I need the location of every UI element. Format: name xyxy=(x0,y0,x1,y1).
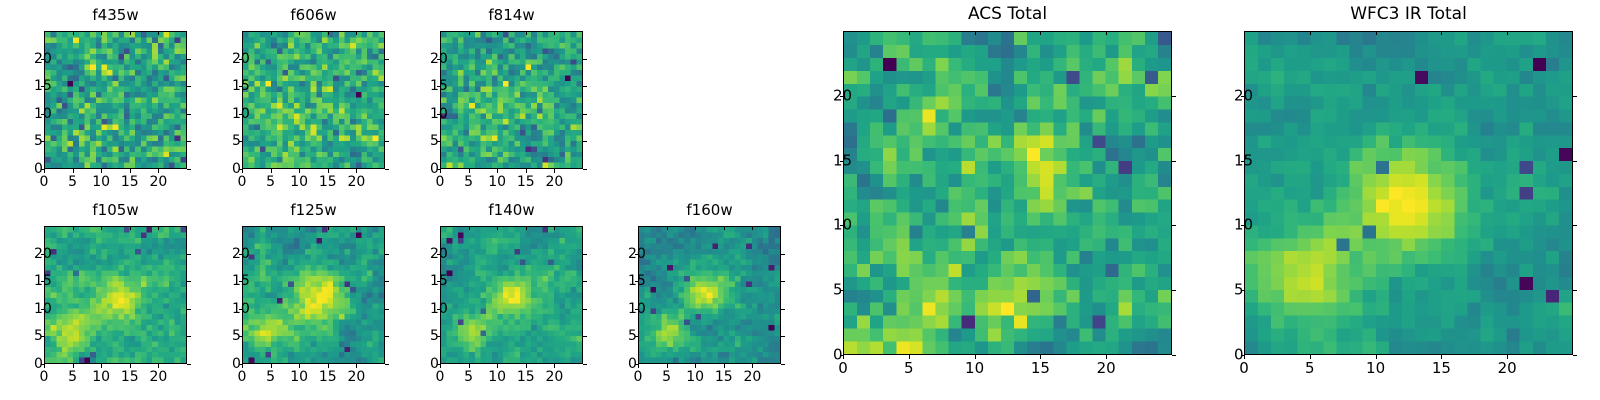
x-tick-label: 0 xyxy=(436,175,445,189)
x-tick-label: 0 xyxy=(40,175,49,189)
x-tick xyxy=(667,364,668,368)
y-tick xyxy=(583,364,587,365)
x-tick xyxy=(356,226,357,230)
x-tick xyxy=(1376,31,1377,35)
y-tick xyxy=(583,336,587,337)
y-tick xyxy=(1573,290,1577,291)
y-tick xyxy=(385,281,389,282)
x-tick xyxy=(440,169,441,173)
x-tick xyxy=(1441,355,1442,359)
x-tick-label: 15 xyxy=(121,370,139,384)
x-tick-label: 20 xyxy=(1498,361,1517,376)
x-tick xyxy=(526,364,527,368)
panel-title-f105w: f105w xyxy=(44,203,187,218)
x-tick xyxy=(1310,355,1311,359)
heatmap-image xyxy=(1245,32,1572,354)
y-tick xyxy=(781,254,785,255)
y-tick xyxy=(385,59,389,60)
x-tick-label: 20 xyxy=(149,175,167,189)
axes-acs-total xyxy=(843,31,1172,355)
y-tick xyxy=(583,169,587,170)
x-tick-label: 0 xyxy=(238,370,247,384)
y-tick xyxy=(385,141,389,142)
x-tick xyxy=(158,169,159,173)
x-tick xyxy=(130,226,131,230)
x-tick xyxy=(101,169,102,173)
x-tick-label: 15 xyxy=(1031,361,1050,376)
y-tick xyxy=(385,309,389,310)
x-tick xyxy=(469,31,470,35)
heatmap-image xyxy=(243,32,384,168)
y-tick xyxy=(583,86,587,87)
x-tick xyxy=(724,364,725,368)
y-tick xyxy=(187,309,191,310)
x-tick xyxy=(271,226,272,230)
y-tick xyxy=(187,169,191,170)
x-tick xyxy=(440,226,441,230)
x-tick xyxy=(158,226,159,230)
x-tick-label: 10 xyxy=(488,370,506,384)
x-tick-label: 15 xyxy=(517,370,535,384)
heatmap-image xyxy=(243,227,384,363)
x-tick xyxy=(242,169,243,173)
x-tick xyxy=(695,226,696,230)
x-tick xyxy=(497,169,498,173)
x-tick xyxy=(271,31,272,35)
x-tick-label: 20 xyxy=(1097,361,1116,376)
x-tick-label: 0 xyxy=(436,370,445,384)
panel-f125w: f125w0510152005101520 xyxy=(242,226,385,364)
x-tick xyxy=(101,364,102,368)
x-tick xyxy=(909,355,910,359)
x-tick-label: 20 xyxy=(149,370,167,384)
multi-band-cutout-figure: f435w0510152005101520f606w05101520051015… xyxy=(0,0,1600,400)
x-tick xyxy=(130,169,131,173)
x-tick-label: 5 xyxy=(68,175,77,189)
x-tick xyxy=(242,226,243,230)
x-tick xyxy=(73,364,74,368)
axes-f160w xyxy=(638,226,781,364)
y-tick xyxy=(1573,225,1577,226)
x-tick xyxy=(469,364,470,368)
x-tick xyxy=(101,226,102,230)
heatmap-image xyxy=(844,32,1171,354)
y-tick xyxy=(583,309,587,310)
x-tick xyxy=(667,226,668,230)
x-tick xyxy=(1244,31,1245,35)
x-tick xyxy=(356,364,357,368)
y-tick xyxy=(1172,355,1176,356)
x-tick-label: 5 xyxy=(464,370,473,384)
y-tick xyxy=(1573,96,1577,97)
y-tick xyxy=(781,281,785,282)
x-tick xyxy=(1106,355,1107,359)
x-tick xyxy=(909,31,910,35)
x-tick xyxy=(440,364,441,368)
x-tick xyxy=(299,169,300,173)
y-tick xyxy=(187,281,191,282)
axes-f140w xyxy=(440,226,583,364)
x-tick xyxy=(1507,31,1508,35)
x-tick xyxy=(554,364,555,368)
x-tick-label: 20 xyxy=(347,175,365,189)
y-tick xyxy=(583,141,587,142)
panel-title-f606w: f606w xyxy=(242,8,385,23)
x-tick xyxy=(328,226,329,230)
panel-title-f125w: f125w xyxy=(242,203,385,218)
heatmap-image xyxy=(45,227,186,363)
axes-f435w xyxy=(44,31,187,169)
y-tick xyxy=(1172,161,1176,162)
panel-title-f814w: f814w xyxy=(440,8,583,23)
x-tick-label: 10 xyxy=(488,175,506,189)
y-tick xyxy=(187,86,191,87)
y-tick xyxy=(385,254,389,255)
panel-f160w: f160w0510152005101520 xyxy=(638,226,781,364)
x-tick-label: 10 xyxy=(1366,361,1385,376)
x-tick xyxy=(497,226,498,230)
y-tick xyxy=(385,169,389,170)
x-tick-label: 20 xyxy=(347,370,365,384)
axes-f125w xyxy=(242,226,385,364)
x-tick-label: 15 xyxy=(319,370,337,384)
panel-title-f160w: f160w xyxy=(638,203,781,218)
y-tick xyxy=(583,114,587,115)
x-tick-label: 5 xyxy=(266,370,275,384)
x-tick xyxy=(158,364,159,368)
x-tick xyxy=(975,31,976,35)
y-tick xyxy=(187,254,191,255)
x-tick-label: 10 xyxy=(290,370,308,384)
y-tick xyxy=(583,281,587,282)
axes-f105w xyxy=(44,226,187,364)
x-tick xyxy=(299,31,300,35)
y-tick xyxy=(385,114,389,115)
x-tick xyxy=(44,31,45,35)
x-tick xyxy=(752,226,753,230)
x-tick-label: 15 xyxy=(715,370,733,384)
y-tick xyxy=(583,59,587,60)
x-tick-label: 5 xyxy=(904,361,914,376)
x-tick xyxy=(526,169,527,173)
x-tick xyxy=(554,31,555,35)
x-tick-label: 20 xyxy=(545,175,563,189)
axes-wfc3-ir-total xyxy=(1244,31,1573,355)
y-tick xyxy=(385,86,389,87)
x-tick xyxy=(1507,355,1508,359)
y-tick xyxy=(781,336,785,337)
x-tick xyxy=(356,169,357,173)
x-tick xyxy=(356,31,357,35)
x-tick-label: 5 xyxy=(68,370,77,384)
x-tick-label: 10 xyxy=(686,370,704,384)
y-tick xyxy=(385,336,389,337)
y-tick xyxy=(1172,290,1176,291)
x-tick-label: 10 xyxy=(92,370,110,384)
heatmap-image xyxy=(45,32,186,168)
x-tick xyxy=(975,355,976,359)
x-tick xyxy=(638,226,639,230)
x-tick xyxy=(752,364,753,368)
x-tick xyxy=(158,31,159,35)
y-tick xyxy=(187,336,191,337)
x-tick xyxy=(843,31,844,35)
heatmap-image xyxy=(441,32,582,168)
panel-f814w: f814w0510152005101520 xyxy=(440,31,583,169)
x-tick-label: 15 xyxy=(517,175,535,189)
x-tick xyxy=(73,226,74,230)
x-tick-label: 0 xyxy=(238,175,247,189)
x-tick xyxy=(526,31,527,35)
x-tick-label: 5 xyxy=(464,175,473,189)
x-tick xyxy=(299,226,300,230)
x-tick-label: 0 xyxy=(40,370,49,384)
y-tick xyxy=(1573,161,1577,162)
panel-acs-total: ACS Total0510152005101520 xyxy=(843,31,1172,355)
x-tick-label: 5 xyxy=(1305,361,1315,376)
x-tick xyxy=(1040,355,1041,359)
x-tick xyxy=(1441,31,1442,35)
x-tick xyxy=(271,364,272,368)
x-tick xyxy=(469,226,470,230)
panel-f606w: f606w0510152005101520 xyxy=(242,31,385,169)
x-tick xyxy=(44,226,45,230)
x-tick xyxy=(73,31,74,35)
x-tick-label: 10 xyxy=(290,175,308,189)
x-tick xyxy=(44,169,45,173)
x-tick xyxy=(724,226,725,230)
x-tick xyxy=(130,31,131,35)
panel-title-acs-total: ACS Total xyxy=(843,6,1172,23)
x-tick xyxy=(242,364,243,368)
x-tick xyxy=(328,169,329,173)
x-tick xyxy=(440,31,441,35)
x-tick xyxy=(526,226,527,230)
x-tick xyxy=(1310,31,1311,35)
x-tick-label: 0 xyxy=(634,370,643,384)
panel-title-f435w: f435w xyxy=(44,8,187,23)
x-tick xyxy=(299,364,300,368)
x-tick xyxy=(1040,31,1041,35)
y-tick xyxy=(583,254,587,255)
panel-f105w: f105w0510152005101520 xyxy=(44,226,187,364)
panel-wfc3-ir-total: WFC3 IR Total0510152005101520 xyxy=(1244,31,1573,355)
x-tick-label: 15 xyxy=(319,175,337,189)
x-tick xyxy=(44,364,45,368)
x-tick-label: 5 xyxy=(266,175,275,189)
x-tick xyxy=(1244,355,1245,359)
x-tick xyxy=(242,31,243,35)
heatmap-image xyxy=(639,227,780,363)
x-tick xyxy=(638,364,639,368)
panel-title-f140w: f140w xyxy=(440,203,583,218)
x-tick xyxy=(695,364,696,368)
x-tick xyxy=(101,31,102,35)
heatmap-image xyxy=(441,227,582,363)
y-tick xyxy=(385,364,389,365)
x-tick-label: 15 xyxy=(1432,361,1451,376)
y-tick xyxy=(187,114,191,115)
x-tick xyxy=(554,226,555,230)
panel-f140w: f140w0510152005101520 xyxy=(440,226,583,364)
x-tick-label: 15 xyxy=(121,175,139,189)
y-tick xyxy=(1573,355,1577,356)
x-tick xyxy=(497,364,498,368)
y-tick xyxy=(1172,225,1176,226)
x-tick xyxy=(554,169,555,173)
x-tick xyxy=(1376,355,1377,359)
x-tick xyxy=(73,169,74,173)
y-tick xyxy=(187,59,191,60)
y-tick xyxy=(1172,96,1176,97)
x-tick xyxy=(469,169,470,173)
axes-f814w xyxy=(440,31,583,169)
panel-f435w: f435w0510152005101520 xyxy=(44,31,187,169)
x-tick-label: 5 xyxy=(662,370,671,384)
x-tick xyxy=(328,31,329,35)
x-tick xyxy=(328,364,329,368)
x-tick-label: 20 xyxy=(545,370,563,384)
y-tick xyxy=(187,141,191,142)
x-tick-label: 10 xyxy=(965,361,984,376)
x-tick xyxy=(843,355,844,359)
y-tick xyxy=(781,309,785,310)
x-tick xyxy=(497,31,498,35)
panel-title-wfc3-ir-total: WFC3 IR Total xyxy=(1244,6,1573,23)
x-tick xyxy=(1106,31,1107,35)
x-tick xyxy=(271,169,272,173)
axes-f606w xyxy=(242,31,385,169)
x-tick-label: 10 xyxy=(92,175,110,189)
y-tick xyxy=(187,364,191,365)
y-tick xyxy=(781,364,785,365)
x-tick xyxy=(130,364,131,368)
x-tick-label: 20 xyxy=(743,370,761,384)
